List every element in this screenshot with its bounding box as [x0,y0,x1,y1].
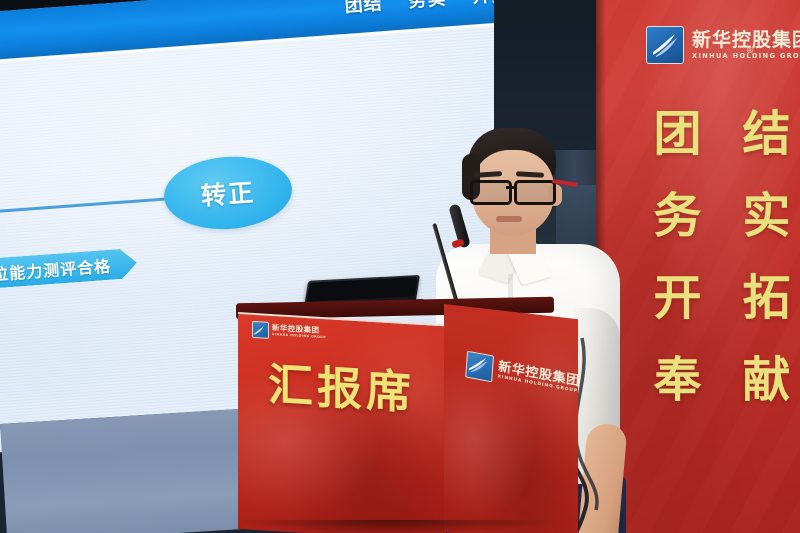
banner-char-5: 开 [644,274,711,322]
podium-right-panel: 新华控股集团 XINHUA HOLDING GROUP 想 事 [444,304,578,533]
podium-title-char-1: 汇 [268,362,313,410]
podium-right-texture [444,304,578,533]
podium-badge-text: 新华控股集团 XINHUA HOLDING GROUP [272,324,326,339]
glasses-icon [470,180,558,200]
banner-slogan-grid: 团 结 务 实 开 拓 奉 献 [644,110,800,404]
podium-title: 汇 报 席 [268,362,411,415]
banner-char-8: 献 [733,356,800,404]
podium-title-char-3: 席 [366,368,411,416]
slide-slogan-1: 团结 [344,0,384,18]
banner-logo-text: 新华控股集团 XINHUA HOLDING GROUP [692,31,800,60]
photo-scene: 团结 务实 开拓 奉献 转正 岗位能力测评合格 [0,0,800,533]
slide-ellipse-label: 转正 [200,173,257,213]
glasses-lens-left [470,180,512,205]
podium-floor-shadow [236,520,556,533]
podium-left-texture [238,314,446,533]
banner-char-4: 实 [733,192,800,240]
xinhua-logo-icon [646,26,684,64]
banner-char-6: 拓 [733,274,800,322]
slide-slogan-2: 务实 [407,0,447,13]
speaker-mouth [496,216,522,222]
report-podium: 新华控股集团 XINHUA HOLDING GROUP 汇 报 席 [230,300,560,533]
banner-char-1: 团 [644,110,711,158]
banner-company-logo: 新华控股集团 XINHUA HOLDING GROUP ® [646,26,800,64]
podium-badge-logo-icon [252,321,269,339]
glasses-bridge [506,186,514,189]
podium-badge-en: XINHUA HOLDING GROUP [272,333,326,339]
podium-left-panel: 新华控股集团 XINHUA HOLDING GROUP 汇 报 席 [238,312,446,533]
laptop-screen [307,277,418,302]
banner-char-3: 务 [644,192,711,240]
podium-front-logo-icon [465,351,494,383]
podium-title-char-2: 报 [317,365,362,413]
glasses-lens-right [514,180,556,205]
registered-mark-icon: ® [746,46,754,55]
banner-char-7: 奉 [644,356,711,404]
banner-char-2: 结 [733,110,800,158]
red-slogan-banner: 新华控股集团 XINHUA HOLDING GROUP ® 团 结 务 实 开 … [596,0,800,533]
